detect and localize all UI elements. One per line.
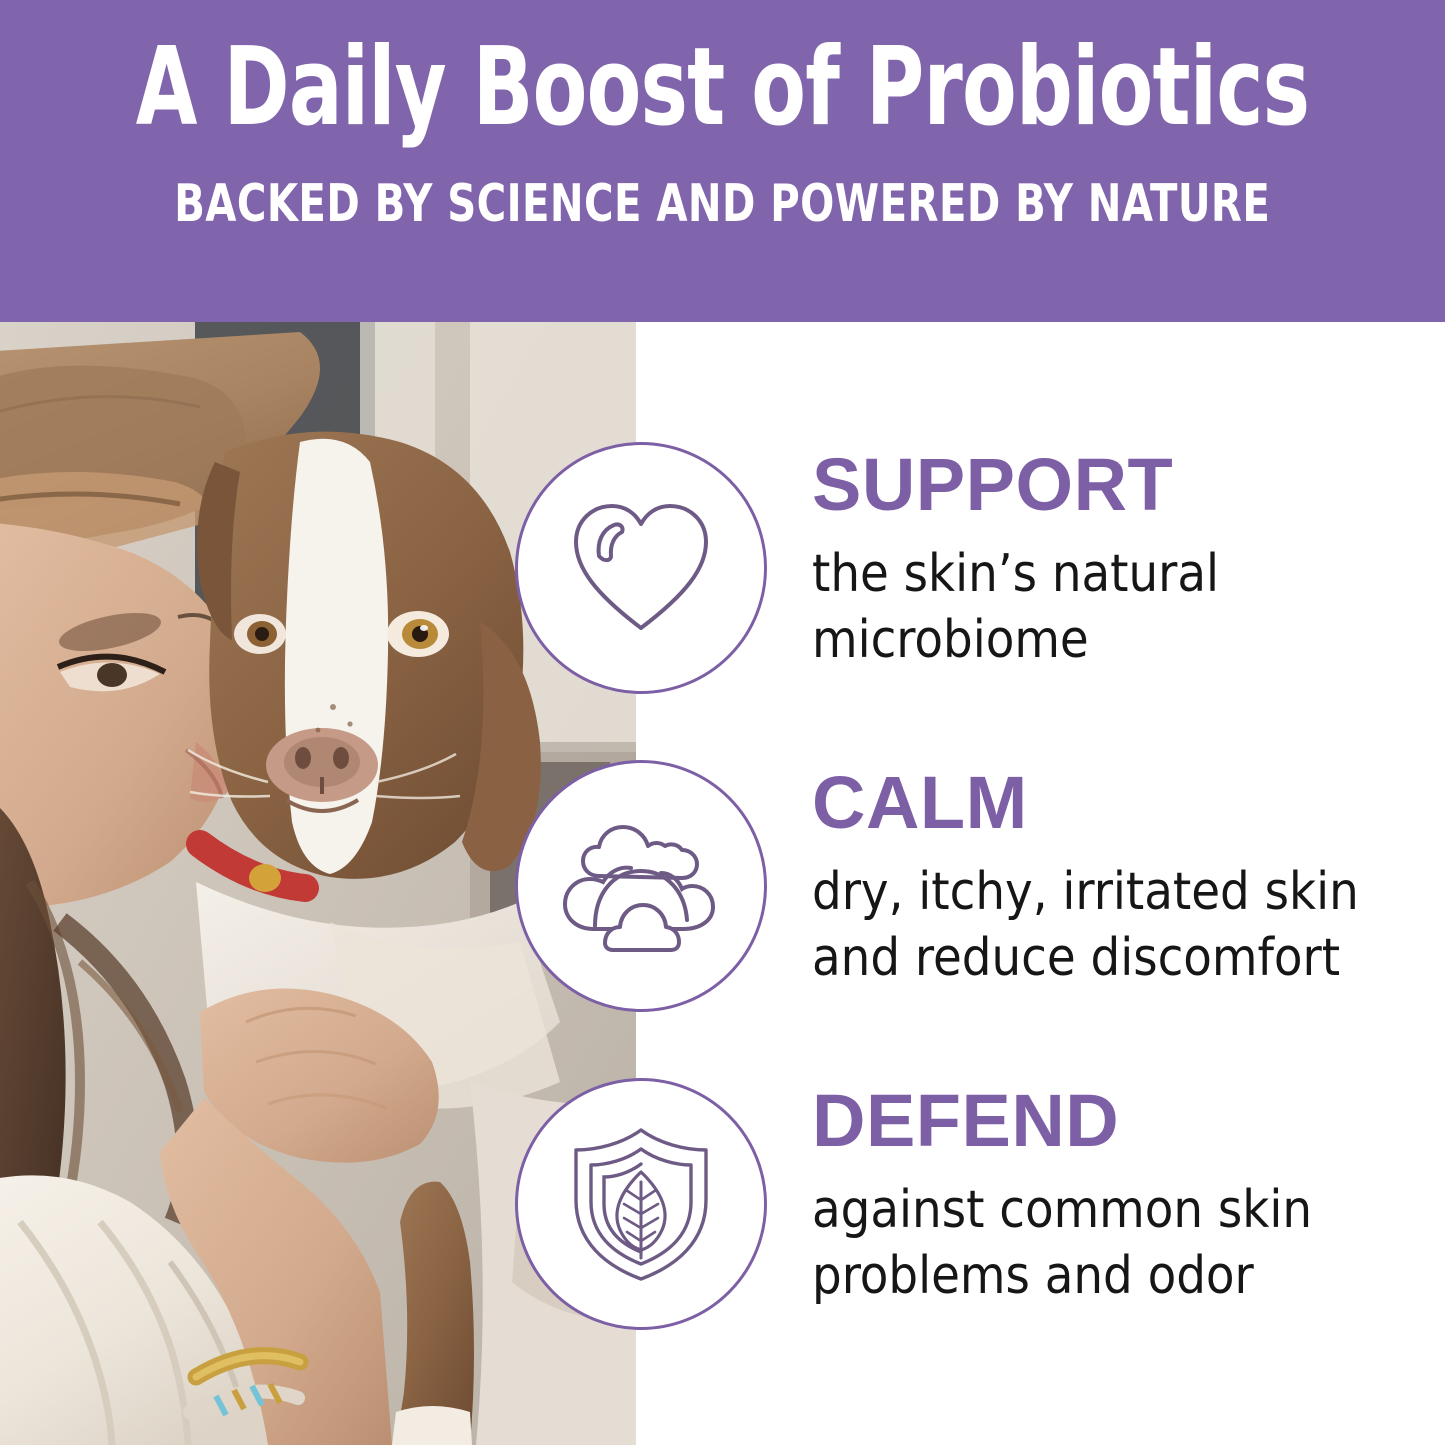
benefit-heading-calm: CALM [812, 766, 1359, 840]
benefit-text-defend: DEFEND against common skin problems and … [812, 1078, 1312, 1309]
page-subtitle: BACKED BY SCIENCE AND POWERED BY NATURE [174, 178, 1270, 230]
benefit-row-calm: CALM dry, itchy, irritated skin and redu… [515, 760, 1359, 1012]
benefit-heading-support: SUPPORT [812, 448, 1219, 522]
benefit-text-calm: CALM dry, itchy, irritated skin and redu… [812, 760, 1359, 991]
benefit-heading-defend: DEFEND [812, 1084, 1312, 1158]
benefit-text-support: SUPPORT the skin’s natural microbiome [812, 442, 1219, 673]
shield-leaf-icon [566, 1124, 716, 1284]
benefit-description-line: against common skin [812, 1178, 1312, 1244]
probiotics-infographic: A Daily Boost of Probiotics BACKED BY SC… [0, 0, 1445, 1445]
benefit-description-line: and reduce discomfort [812, 926, 1359, 992]
benefit-description-line: microbiome [812, 608, 1219, 674]
benefit-description-support: the skin’s natural microbiome [812, 542, 1219, 673]
benefit-row-support: SUPPORT the skin’s natural microbiome [515, 442, 1219, 694]
shield-leaf-icon-badge [515, 1078, 767, 1330]
benefit-description-line: problems and odor [812, 1244, 1312, 1310]
page-title: A Daily Boost of Probiotics [136, 34, 1309, 142]
benefit-row-defend: DEFEND against common skin problems and … [515, 1078, 1312, 1330]
clouds-icon [561, 816, 721, 956]
heart-icon-badge [515, 442, 767, 694]
clouds-icon-badge [515, 760, 767, 1012]
benefit-description-line: dry, itchy, irritated skin [812, 860, 1359, 926]
benefit-description-defend: against common skin problems and odor [812, 1178, 1312, 1309]
heart-icon [566, 498, 716, 638]
benefit-description-line: the skin’s natural [812, 542, 1219, 608]
header-banner: A Daily Boost of Probiotics BACKED BY SC… [0, 0, 1445, 322]
benefit-description-calm: dry, itchy, irritated skin and reduce di… [812, 860, 1359, 991]
